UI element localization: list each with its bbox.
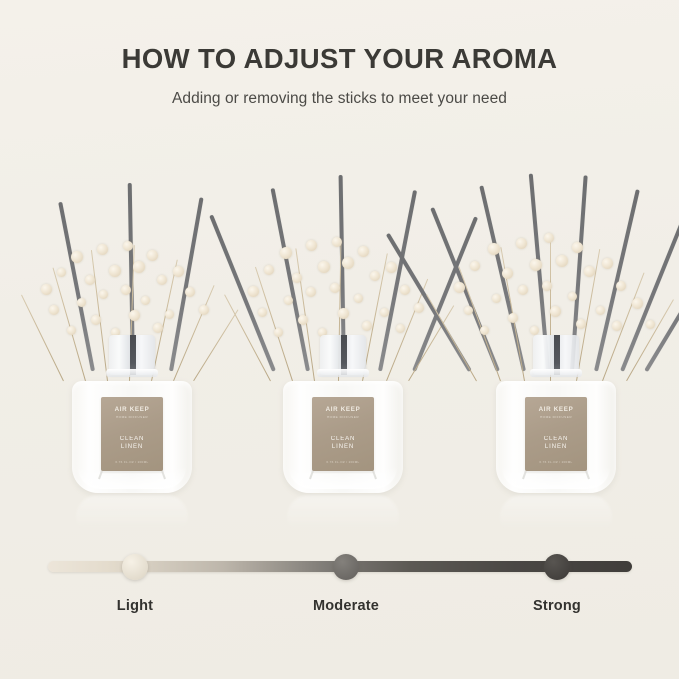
bottle-body: AIR KEEP HOME DIFFUSER CLEAN LINEN 6.76 …	[496, 381, 616, 493]
reed-stick-icon	[378, 190, 417, 371]
reed-stick-icon	[169, 197, 204, 371]
bottle-collar-ring	[530, 369, 582, 377]
diffuser-bottle: AIR KEEP HOME DIFFUSER CLEAN LINEN 6.76 …	[283, 371, 403, 499]
slider-label-strong: Strong	[533, 598, 581, 614]
bottle-reflection	[76, 495, 188, 529]
label-scent: CLEAN LINEN	[331, 435, 356, 452]
bottle-collar-ring	[106, 369, 158, 377]
label-brand: AIR KEEP	[326, 406, 361, 413]
label-brand: AIR KEEP	[115, 406, 150, 413]
label-volume: 6.76 FL.OZ / 200ML	[539, 460, 572, 464]
label-brand: AIR KEEP	[539, 406, 574, 413]
slider-label-row: Light Moderate Strong	[48, 598, 632, 620]
diffuser-bottle: AIR KEEP HOME DIFFUSER CLEAN LINEN 6.76 …	[72, 371, 192, 499]
bottle-reflection	[500, 495, 612, 529]
label-scent-line1: CLEAN	[544, 436, 569, 442]
bottle-label: AIR KEEP HOME DIFFUSER CLEAN LINEN 6.76 …	[525, 397, 587, 471]
bottle-body: AIR KEEP HOME DIFFUSER CLEAN LINEN 6.76 …	[72, 381, 192, 493]
label-scent-line2: LINEN	[545, 444, 567, 450]
label-scent-line1: CLEAN	[120, 436, 145, 442]
bottle-label: AIR KEEP HOME DIFFUSER CLEAN LINEN 6.76 …	[312, 397, 374, 471]
slider-dot-strong[interactable]	[544, 554, 570, 580]
poster-canvas: HOW TO ADJUST YOUR AROMA Adding or remov…	[0, 0, 679, 679]
slider-label-moderate: Moderate	[313, 598, 379, 614]
label-tagline: HOME DIFFUSER	[327, 415, 359, 419]
label-scent: CLEAN LINEN	[120, 435, 145, 452]
diffuser-bottle: AIR KEEP HOME DIFFUSER CLEAN LINEN 6.76 …	[496, 371, 616, 499]
slider-dot-light[interactable]	[122, 554, 148, 580]
reed-stick-icon	[271, 188, 310, 371]
label-scent-line2: LINEN	[332, 444, 354, 450]
bottle-collar-ring	[317, 369, 369, 377]
label-scent-line2: LINEN	[121, 444, 143, 450]
label-volume: 6.76 FL.OZ / 200ML	[115, 460, 148, 464]
slider-dot-moderate[interactable]	[333, 554, 359, 580]
bottle-label: AIR KEEP HOME DIFFUSER CLEAN LINEN 6.76 …	[101, 397, 163, 471]
bottle-reflection	[287, 495, 399, 529]
reed-stick-icon	[58, 202, 95, 372]
slider-label-light: Light	[117, 598, 153, 614]
intensity-slider[interactable]	[48, 557, 632, 575]
bottle-body: AIR KEEP HOME DIFFUSER CLEAN LINEN 6.76 …	[283, 381, 403, 493]
label-volume: 6.76 FL.OZ / 200ML	[326, 460, 359, 464]
label-tagline: HOME DIFFUSER	[116, 415, 148, 419]
label-scent: CLEAN LINEN	[544, 435, 569, 452]
label-scent-line1: CLEAN	[331, 436, 356, 442]
label-tagline: HOME DIFFUSER	[540, 415, 572, 419]
